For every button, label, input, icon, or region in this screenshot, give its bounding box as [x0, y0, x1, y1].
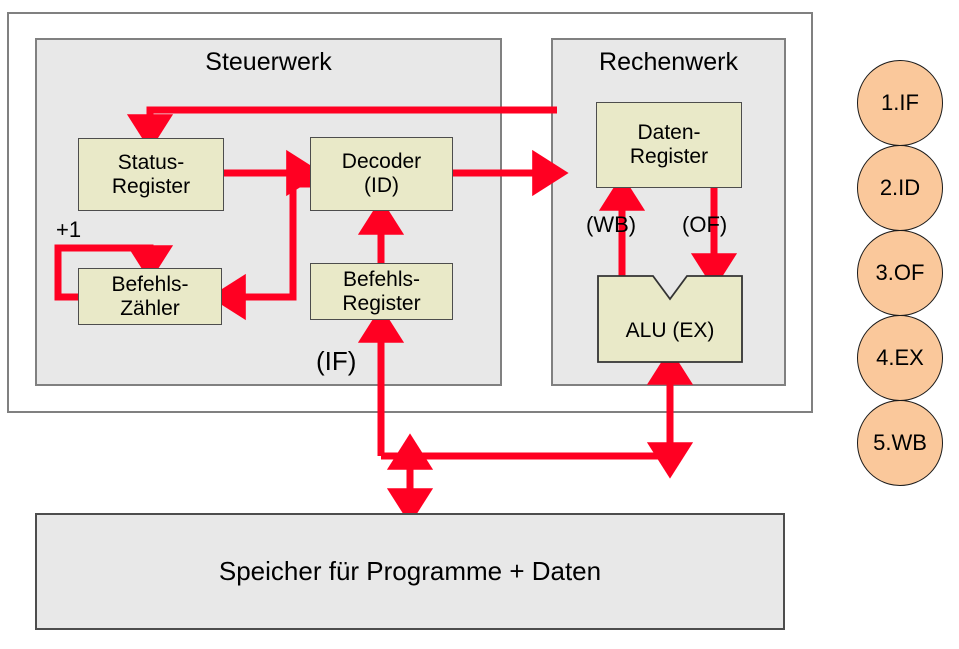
befehls-register-box: Befehls- Register — [310, 263, 453, 320]
phase-circle-3: 3.OF — [857, 230, 943, 316]
befehls-register-label-line2: Register — [342, 292, 420, 316]
write-back-label: (WB) — [586, 212, 636, 238]
daten-register-box: Daten- Register — [596, 102, 742, 188]
status-register-label-line1: Status- — [118, 151, 185, 175]
befehls-zaehler-label-line2: Zähler — [120, 297, 180, 321]
instruction-fetch-label: (IF) — [316, 346, 356, 377]
operand-fetch-label: (OF) — [682, 212, 727, 238]
diagram-canvas: Steuerwerk Rechenwerk — [0, 0, 959, 649]
alu-box: ALU (EX) — [597, 275, 743, 363]
daten-register-label-line1: Daten- — [637, 121, 700, 145]
daten-register-label-line2: Register — [630, 145, 708, 169]
phase-circle-2-label: 2.ID — [880, 175, 920, 201]
arrow-decoder-to-befehls-zaehler — [229, 184, 310, 297]
befehls-zaehler-label-line1: Befehls- — [111, 273, 188, 297]
phase-circle-4: 4.EX — [857, 315, 943, 401]
phase-circle-5-label: 5.WB — [873, 430, 927, 456]
status-register-box: Status- Register — [78, 138, 224, 211]
memory-label: Speicher für Programme + Daten — [219, 557, 601, 586]
phase-circle-1-label: 1.IF — [881, 90, 919, 116]
decoder-label-line1: Decoder — [342, 150, 421, 174]
phase-circle-3-label: 3.OF — [876, 260, 925, 286]
memory-box: Speicher für Programme + Daten — [35, 513, 785, 630]
decoder-label-line2: (ID) — [364, 174, 399, 198]
befehls-zaehler-box: Befehls- Zähler — [78, 268, 222, 325]
phase-circle-2: 2.ID — [857, 145, 943, 231]
phase-circle-5: 5.WB — [857, 400, 943, 486]
arrow-feedback-to-status-register — [150, 110, 557, 131]
phase-circle-4-label: 4.EX — [876, 345, 924, 371]
status-register-label-line2: Register — [112, 175, 190, 199]
phase-circle-1: 1.IF — [857, 60, 943, 146]
increment-label: +1 — [56, 217, 81, 243]
decoder-box: Decoder (ID) — [310, 137, 453, 211]
befehls-register-label-line1: Befehls- — [343, 268, 420, 292]
alu-label: ALU (EX) — [597, 319, 743, 343]
